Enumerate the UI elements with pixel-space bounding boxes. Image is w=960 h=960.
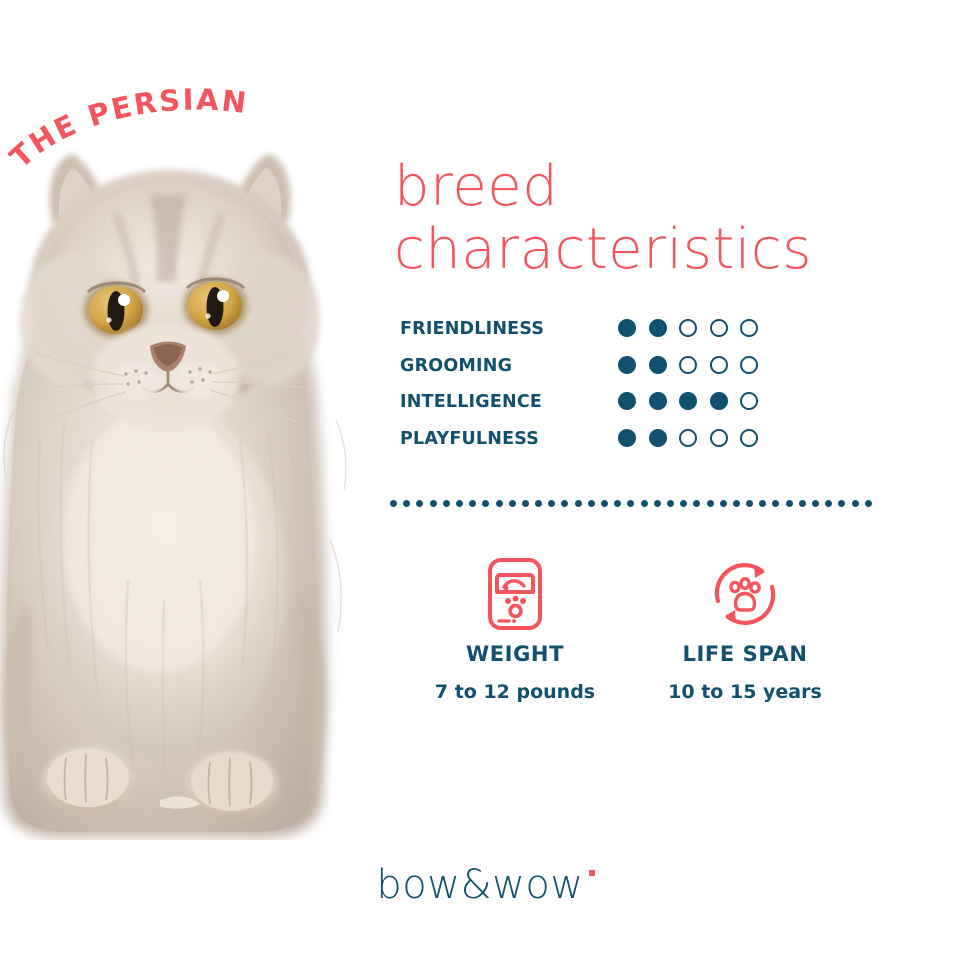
rating-dot-filled <box>649 356 667 374</box>
divider-dot <box>759 500 766 507</box>
registered-trademark-icon <box>589 870 595 876</box>
rating-dot-filled <box>618 392 636 410</box>
rating-dot-empty <box>740 392 758 410</box>
brand-logo[interactable]: bow&wow <box>0 862 960 908</box>
divider-dot <box>799 500 806 507</box>
rating-dot-empty <box>740 429 758 447</box>
divider-dot <box>825 500 832 507</box>
divider-dot <box>561 500 568 507</box>
rating-row: INTELLIGENCE <box>400 389 800 426</box>
rating-label: PLAYFULNESS <box>400 426 539 452</box>
page-title-line2: characteristics <box>394 219 812 282</box>
persian-cat-illustration <box>0 110 350 840</box>
rating-dot-empty <box>740 319 758 337</box>
divider-dot <box>786 500 793 507</box>
divider-dot <box>693 500 700 507</box>
rating-dots <box>618 319 758 337</box>
divider-dot <box>627 500 634 507</box>
rating-dot-empty <box>710 319 728 337</box>
dotted-divider <box>390 500 872 508</box>
rating-label: INTELLIGENCE <box>400 389 542 415</box>
divider-dot <box>535 500 542 507</box>
infographic-page: THE PERSIAN breed characteristics FRIEND… <box>0 0 960 960</box>
divider-dot <box>522 500 529 507</box>
cat-eye-right <box>183 278 247 334</box>
rating-row: FRIENDLINESS <box>400 316 800 353</box>
life-span-paw-cycle-icon <box>640 552 850 636</box>
divider-dot <box>812 500 819 507</box>
breed-info-panel: breed characteristics FRIENDLINESSGROOMI… <box>392 0 912 960</box>
divider-dot <box>430 500 437 507</box>
rating-label: GROOMING <box>400 353 512 379</box>
divider-dot <box>601 500 608 507</box>
brand-logo-text: bow&wow <box>376 862 583 908</box>
stat-life-span-value: 10 to 15 years <box>640 680 850 706</box>
rating-dot-filled <box>649 429 667 447</box>
rating-dot-filled <box>618 429 636 447</box>
rating-dot-empty <box>679 429 697 447</box>
stat-life-span: LIFE SPAN 10 to 15 years <box>640 552 850 706</box>
rating-dot-filled <box>679 392 697 410</box>
breed-stats: WEIGHT 7 to 12 pounds <box>392 552 852 706</box>
weight-scale-icon <box>410 552 620 636</box>
divider-dot <box>614 500 621 507</box>
divider-dot <box>496 500 503 507</box>
rating-dots <box>618 356 758 374</box>
divider-dot <box>680 500 687 507</box>
divider-dot <box>707 500 714 507</box>
rating-dot-filled <box>649 319 667 337</box>
rating-dot-filled <box>618 319 636 337</box>
divider-dot <box>482 500 489 507</box>
divider-dot <box>403 500 410 507</box>
divider-dot <box>654 500 661 507</box>
rating-row: PLAYFULNESS <box>400 426 800 463</box>
stat-weight: WEIGHT 7 to 12 pounds <box>410 552 620 706</box>
rating-dot-empty <box>679 319 697 337</box>
divider-dot <box>865 500 872 507</box>
rating-dot-filled <box>649 392 667 410</box>
divider-dot <box>416 500 423 507</box>
divider-dot <box>456 500 463 507</box>
divider-dot <box>390 500 397 507</box>
divider-dot <box>575 500 582 507</box>
divider-dot <box>641 500 648 507</box>
divider-dot <box>838 500 845 507</box>
page-title-line1: breed <box>394 156 812 219</box>
divider-dot <box>733 500 740 507</box>
rating-dots <box>618 429 758 447</box>
rating-dot-empty <box>740 356 758 374</box>
stat-life-span-title: LIFE SPAN <box>640 642 850 666</box>
rating-dots <box>618 392 758 410</box>
divider-dot <box>772 500 779 507</box>
cat-photo <box>0 110 350 840</box>
divider-dot <box>852 500 859 507</box>
rating-label: FRIENDLINESS <box>400 316 544 342</box>
divider-dot <box>509 500 516 507</box>
divider-dot <box>720 500 727 507</box>
stat-weight-title: WEIGHT <box>410 642 620 666</box>
rating-dot-empty <box>710 429 728 447</box>
rating-row: GROOMING <box>400 353 800 390</box>
divider-dot <box>469 500 476 507</box>
divider-dot <box>443 500 450 507</box>
page-title: breed characteristics <box>394 156 812 281</box>
divider-dot <box>667 500 674 507</box>
rating-dot-empty <box>679 356 697 374</box>
divider-dot <box>746 500 753 507</box>
characteristics-ratings: FRIENDLINESSGROOMINGINTELLIGENCEPLAYFULN… <box>400 316 800 462</box>
rating-dot-filled <box>618 356 636 374</box>
stat-weight-value: 7 to 12 pounds <box>410 680 620 706</box>
rating-dot-filled <box>710 392 728 410</box>
divider-dot <box>588 500 595 507</box>
divider-dot <box>548 500 555 507</box>
rating-dot-empty <box>710 356 728 374</box>
